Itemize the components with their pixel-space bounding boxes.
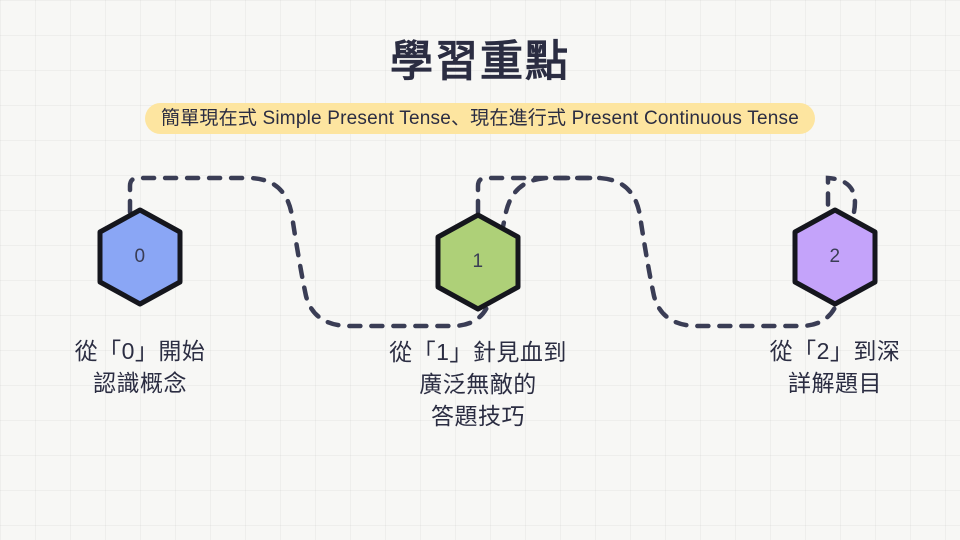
page-title: 學習重點 bbox=[0, 37, 960, 87]
step-2[interactable]: 2 從「2」到深 詳解題目 bbox=[705, 205, 960, 399]
hexagon-2[interactable]: 2 bbox=[785, 205, 885, 309]
step-caption-2: 從「2」到深 詳解題目 bbox=[705, 335, 960, 399]
hexagon-number-0: 0 bbox=[90, 205, 190, 309]
caption-line: 從「2」到深 bbox=[705, 335, 960, 367]
step-0[interactable]: 0 從「0」開始 認識概念 bbox=[10, 205, 270, 399]
caption-line: 從「1」針見血到 bbox=[348, 336, 608, 368]
slide-canvas: 學習重點 簡單現在式 Simple Present Tense、現在進行式 Pr… bbox=[0, 0, 960, 540]
subtitle-highlight-banner: 簡單現在式 Simple Present Tense、現在進行式 Present… bbox=[145, 103, 815, 134]
step-caption-1: 從「1」針見血到 廣泛無敵的 答題技巧 bbox=[348, 336, 608, 432]
hexagon-number-2: 2 bbox=[785, 205, 885, 309]
step-caption-0: 從「0」開始 認識概念 bbox=[10, 335, 270, 399]
caption-line: 答題技巧 bbox=[348, 400, 608, 432]
caption-line: 從「0」開始 bbox=[10, 335, 270, 367]
caption-line: 認識概念 bbox=[10, 367, 270, 399]
caption-line: 廣泛無敵的 bbox=[348, 368, 608, 400]
step-1[interactable]: 1 從「1」針見血到 廣泛無敵的 答題技巧 bbox=[348, 210, 608, 432]
hexagon-number-1: 1 bbox=[428, 210, 528, 314]
subtitle-container: 簡單現在式 Simple Present Tense、現在進行式 Present… bbox=[0, 103, 960, 134]
caption-line: 詳解題目 bbox=[705, 367, 960, 399]
hexagon-0[interactable]: 0 bbox=[90, 205, 190, 309]
hexagon-1[interactable]: 1 bbox=[428, 210, 528, 314]
